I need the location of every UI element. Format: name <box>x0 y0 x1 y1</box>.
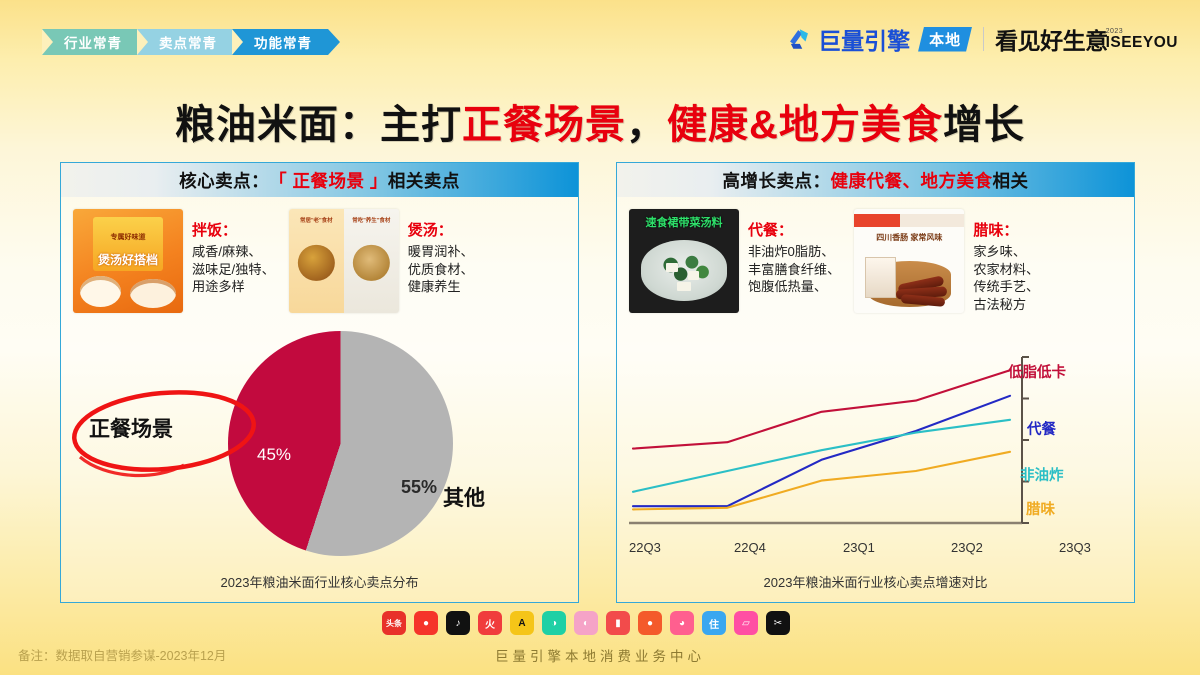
selling-point-baotang: 常居"老"食材 常吃"养生"食材 煲汤： 暖胃润补、 优质食材、 健康养生 <box>289 209 474 313</box>
huoshan-icon[interactable]: 火 <box>478 611 502 635</box>
left-panel-header: 核心卖点：「 正餐场景 」相关卖点 <box>61 163 578 197</box>
bendi-tag: 本地 <box>918 27 972 52</box>
baotang-line-3: 健康养生 <box>408 278 474 296</box>
banfan-line-2: 滋味足/独特、 <box>192 261 275 279</box>
banfan-title: 拌饭： <box>192 219 275 240</box>
breadcrumb-label-1: 行业常青 <box>64 32 122 52</box>
left-head-highlight: 「 正餐场景 」 <box>269 168 388 193</box>
baotang-line-1: 暖胃润补、 <box>408 243 474 261</box>
app-icon-row: 头条●♪火A◑◐▮●◕住▱✂ <box>382 611 790 635</box>
page-title: 粮油米面：主打正餐场景，健康&地方美食增长 <box>0 92 1200 150</box>
pipixia-icon[interactable]: ◑ <box>542 611 566 635</box>
right-head-suffix: 相关 <box>993 168 1029 193</box>
daican-line-3: 饱腹低热量、 <box>748 278 840 296</box>
daican-line-2: 丰富膳食纤维、 <box>748 261 840 279</box>
daican-soup-thumb: 速食裙带菜汤料 <box>629 209 739 313</box>
baotang-title: 煲汤： <box>408 219 474 240</box>
pie-chart-area: 45% 55% 其他 正餐场景 2023年粮油米面行业核心卖点分布 <box>61 325 578 603</box>
banfan-lines: 咸香/麻辣、 滋味足/独特、 用途多样 <box>192 243 275 296</box>
pie-chart-caption: 2023年粮油米面行业核心卖点分布 <box>61 572 578 591</box>
slogan-en: ISEEYOU <box>1106 35 1178 51</box>
selling-point-lawei: 四川香肠 家常风味 腊味： 家乡味、 农家材料、 传统手艺、 古法秘方 <box>854 209 1039 313</box>
logo-divider <box>983 27 984 51</box>
doc-icon[interactable]: ▱ <box>734 611 758 635</box>
line-chart-area: 低脂低卡 代餐 非油炸 腊味 22Q3 22Q4 23Q1 23Q2 23Q3 … <box>617 325 1134 603</box>
book-icon[interactable]: ▮ <box>606 611 630 635</box>
banfan-thumb-small-text: 专属好味道 <box>73 232 183 242</box>
banfan-text: 拌饭： 咸香/麻辣、 滋味足/独特、 用途多样 <box>192 209 275 313</box>
banfan-line-1: 咸香/麻辣、 <box>192 243 275 261</box>
lawei-line-3: 传统手艺、 <box>973 278 1039 296</box>
baotang-text: 煲汤： 暖胃润补、 优质食材、 健康养生 <box>408 209 474 313</box>
baotang-product-thumb: 常居"老"食材 常吃"养生"食材 <box>289 209 399 313</box>
banfan-line-3: 用途多样 <box>192 278 275 296</box>
right-selling-points-row: 速食裙带菜汤料 代餐： 非油炸0脂肪、 丰富膳食纤维、 饱腹低热量、 <box>617 197 1134 313</box>
x-tick-4: 23Q2 <box>951 540 983 555</box>
lawei-sausage-thumb: 四川香肠 家常风味 <box>854 209 964 313</box>
lawei-line-1: 家乡味、 <box>973 243 1039 261</box>
brand-name: 巨量引擎 <box>818 22 910 56</box>
breadcrumb: 行业常青 卖点常青 功能常青 <box>42 29 327 55</box>
zhu-icon[interactable]: 住 <box>702 611 726 635</box>
x-tick-2: 22Q4 <box>734 540 766 555</box>
right-panel-header: 高增长卖点：健康代餐、地方美食相关 <box>617 163 1134 197</box>
footer-center-name: 巨量引擎本地消费业务中心 <box>0 645 1200 665</box>
brand-logo-bar: 巨量引擎 本地 看见好生意 2023 ISEEYOU <box>786 22 1178 56</box>
baotang-thumb-right-text: 常吃"养生"食材 <box>344 216 399 224</box>
pie-category-other: 其他 <box>443 482 485 512</box>
right-head-highlight: 健康代餐、地方美食 <box>831 168 993 193</box>
breadcrumb-item-3[interactable]: 功能常青 <box>232 29 328 55</box>
x-tick-3: 23Q1 <box>843 540 875 555</box>
banfan-thumb-big-text: 煲汤好搭档 <box>73 251 183 268</box>
series-label-lawei: 腊味 <box>1026 498 1055 519</box>
toutiao-icon[interactable]: 头条 <box>382 611 406 635</box>
banfan-product-thumb: 专属好味道 煲汤好搭档 <box>73 209 183 313</box>
lawei-text: 腊味： 家乡味、 农家材料、 传统手艺、 古法秘方 <box>973 209 1039 313</box>
left-head-suffix: 相关卖点 <box>388 168 460 193</box>
baotang-thumb-left-text: 常居"老"食材 <box>289 216 344 224</box>
breadcrumb-label-2: 卖点常青 <box>159 32 217 52</box>
left-panel-body: 专属好味道 煲汤好搭档 拌饭： 咸香/麻辣、 滋味足/独特、 用途多样 常居"老… <box>61 197 578 602</box>
title-highlight-2: 健康&地方美食 <box>667 103 943 147</box>
jianying-icon[interactable]: ✂ <box>766 611 790 635</box>
right-panel: 高增长卖点：健康代餐、地方美食相关 速食裙带菜汤料 代餐： 非油炸0脂肪、 丰富… <box>616 162 1135 603</box>
selling-point-daican: 速食裙带菜汤料 代餐： 非油炸0脂肪、 丰富膳食纤维、 饱腹低热量、 <box>629 209 840 313</box>
nearby-pin-icon[interactable]: ● <box>414 611 438 635</box>
series-label-nofry: 非油炸 <box>1020 464 1064 485</box>
breadcrumb-item-2[interactable]: 卖点常青 <box>137 29 233 55</box>
lawei-line-4: 古法秘方 <box>973 296 1039 314</box>
title-part-1: 粮油米面：主打 <box>175 103 462 147</box>
right-head-prefix: 高增长卖点： <box>723 168 831 193</box>
daican-line-1: 非油炸0脂肪、 <box>748 243 840 261</box>
lawei-thumb-text: 四川香肠 家常风味 <box>854 232 964 243</box>
slogan-en-wrap: 2023 ISEEYOU <box>1106 28 1178 51</box>
lawei-line-2: 农家材料、 <box>973 261 1039 279</box>
aiqiyi-icon[interactable]: A <box>510 611 534 635</box>
x-tick-5: 23Q3 <box>1059 540 1091 555</box>
series-label-lowfat: 低脂低卡 <box>1008 361 1066 382</box>
slogan-cn: 看见好生意 <box>995 22 1108 56</box>
left-head-prefix: 核心卖点： <box>179 168 269 193</box>
baotang-line-2: 优质食材、 <box>408 261 474 279</box>
daican-lines: 非油炸0脂肪、 丰富膳食纤维、 饱腹低热量、 <box>748 243 840 296</box>
lawei-title: 腊味： <box>973 219 1039 240</box>
douyin-icon[interactable]: ♪ <box>446 611 470 635</box>
breadcrumb-item-1[interactable]: 行业常青 <box>42 29 138 55</box>
daican-text: 代餐： 非油炸0脂肪、 丰富膳食纤维、 饱腹低热量、 <box>748 209 840 313</box>
series-label-meal: 代餐 <box>1027 418 1056 439</box>
juliang-engine-logo-icon <box>786 26 812 52</box>
lawei-lines: 家乡味、 农家材料、 传统手艺、 古法秘方 <box>973 243 1039 313</box>
breadcrumb-label-3: 功能常青 <box>254 32 312 52</box>
red-circle-annotation <box>66 383 266 487</box>
left-selling-points-row: 专属好味道 煲汤好搭档 拌饭： 咸香/麻辣、 滋味足/独特、 用途多样 常居"老… <box>61 197 578 313</box>
title-part-2: ， <box>626 103 667 147</box>
line-chart-caption: 2023年粮油米面行业核心卖点增速对比 <box>617 572 1134 591</box>
right-panel-body: 速食裙带菜汤料 代餐： 非油炸0脂肪、 丰富膳食纤维、 饱腹低热量、 <box>617 197 1134 602</box>
pie-label-55: 55% <box>401 477 437 498</box>
selling-point-banfan: 专属好味道 煲汤好搭档 拌饭： 咸香/麻辣、 滋味足/独特、 用途多样 <box>73 209 275 313</box>
daican-thumb-text: 速食裙带菜汤料 <box>629 214 739 230</box>
baotang-lines: 暖胃润补、 优质食材、 健康养生 <box>408 243 474 296</box>
x-tick-1: 22Q3 <box>629 540 661 555</box>
fanqie-novel-icon[interactable]: ◐ <box>574 611 598 635</box>
tomato-icon[interactable]: ● <box>638 611 662 635</box>
daican-title: 代餐： <box>748 219 840 240</box>
title-highlight-1: 正餐场景 <box>462 103 626 147</box>
emoji-icon[interactable]: ◕ <box>670 611 694 635</box>
title-part-3: 增长 <box>943 103 1025 147</box>
left-panel: 核心卖点：「 正餐场景 」相关卖点 专属好味道 煲汤好搭档 拌饭： 咸香/麻辣、… <box>60 162 579 603</box>
